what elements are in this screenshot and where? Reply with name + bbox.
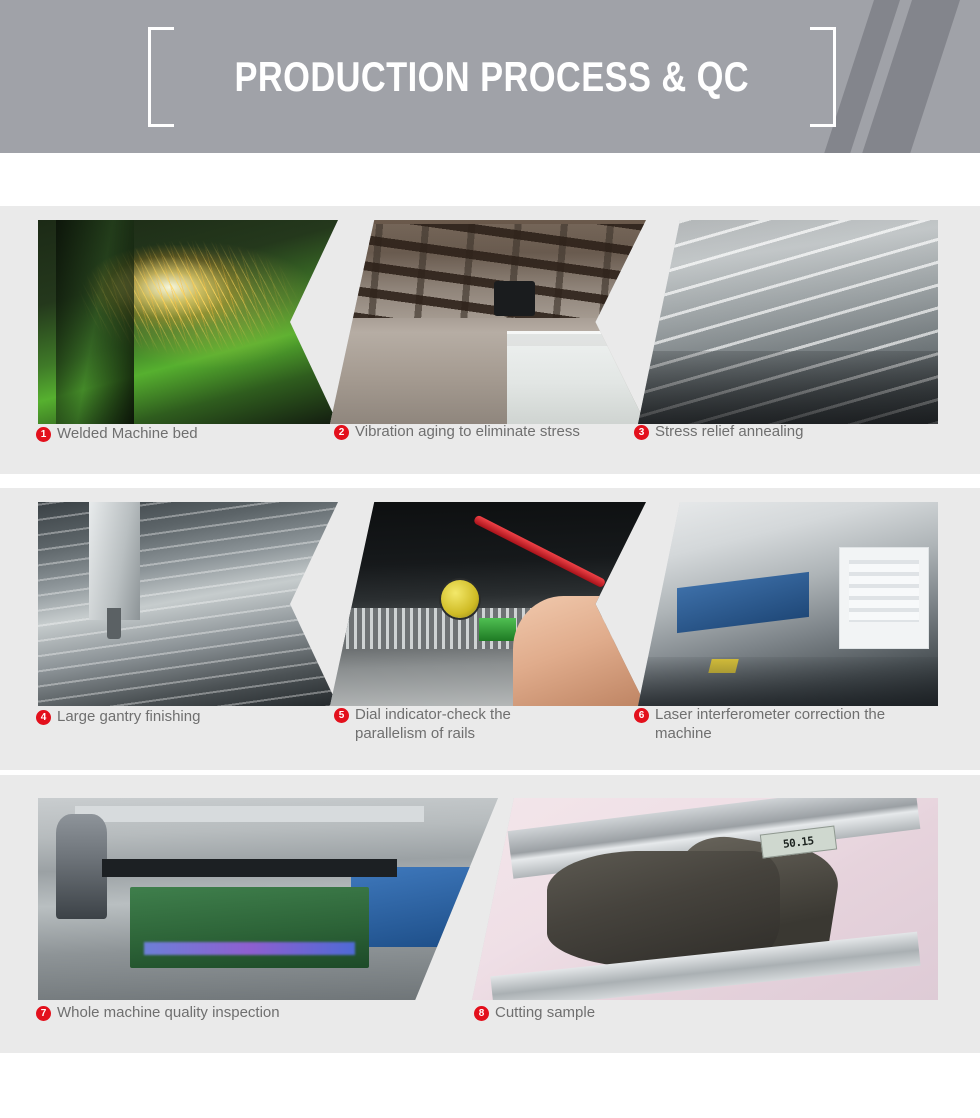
green-block-shape [479,618,517,640]
badge-number-8: 8 [474,1006,489,1021]
banner-diagonal-stripes [820,0,980,153]
dial-indicator-photo [330,502,646,706]
process-image-7[interactable] [38,798,498,1000]
caption-text-3: Stress relief annealing [655,422,803,441]
bracket-right-icon [810,27,836,127]
image-strip-row-3: 50.15 [38,798,938,1000]
process-image-8[interactable]: 50.15 [472,798,938,1000]
badge-number-5: 5 [334,708,349,723]
process-image-3[interactable] [638,220,938,424]
gantry-finishing-photo [38,502,338,706]
spindle-head-shape [89,502,140,620]
caption-step-6: 6 Laser interferometer correction the ma… [634,705,924,743]
control-unit-shape [494,281,535,316]
caption-text-6: Laser interferometer correction the mach… [655,705,924,743]
dark-beam-shape [102,859,396,877]
caption-text-7: Whole machine quality inspection [57,1003,280,1022]
image-strip-row-2 [38,502,938,706]
badge-number-7: 7 [36,1006,51,1021]
banner-title-group: PRODUCTION PROCESS & QC [148,27,836,127]
bracket-left-icon [148,27,174,127]
image-strip-row-1 [38,220,938,424]
caption-step-8: 8 Cutting sample [474,1003,774,1022]
welding-sparks-photo [38,220,338,424]
process-row-1: 1 Welded Machine bed 2 Vibration aging t… [0,206,980,474]
caption-text-4: Large gantry finishing [57,707,200,726]
overhead-rail-shape [75,806,425,822]
blue-table-shape [677,571,809,632]
caption-step-1: 1 Welded Machine bed [36,424,316,443]
process-image-1[interactable] [38,220,338,424]
caption-text-1: Welded Machine bed [57,424,198,443]
caption-text-8: Cutting sample [495,1003,595,1022]
caption-step-2: 2 Vibration aging to eliminate stress [334,422,584,441]
worker-figure-shape [56,814,107,919]
caption-step-5: 5 Dial indicator-check the parallelism o… [334,705,564,743]
page-banner: PRODUCTION PROCESS & QC [0,0,980,153]
caption-step-7: 7 Whole machine quality inspection [36,1003,436,1022]
badge-number-3: 3 [634,425,649,440]
operator-hand-shape [513,596,639,706]
caption-text-2: Vibration aging to eliminate stress [355,422,580,441]
badge-number-4: 4 [36,710,51,725]
annealing-furnace-photo [638,220,938,424]
vibration-aging-photo [330,220,646,424]
page-title: PRODUCTION PROCESS & QC [235,56,750,98]
badge-number-2: 2 [334,425,349,440]
cutting-sample-photo: 50.15 [472,798,938,1000]
dial-gauge-shape [441,580,479,618]
teal-machine-shape [545,385,627,416]
whole-machine-inspection-photo [38,798,498,1000]
process-image-4[interactable] [38,502,338,706]
process-image-5[interactable] [330,502,646,706]
process-image-2[interactable] [330,220,646,424]
caption-step-4: 4 Large gantry finishing [36,707,316,726]
green-laser-machine-shape [130,887,369,968]
control-panel-shape [839,547,929,649]
process-row-3: 50.15 7 Whole machine quality inspection… [0,775,980,1053]
magnetic-arm-shape [473,515,607,589]
badge-number-6: 6 [634,708,649,723]
caption-text-5: Dial indicator-check the parallelism of … [355,705,564,743]
badge-number-1: 1 [36,427,51,442]
laser-interferometer-photo [638,502,938,706]
yellow-marker-shape [708,659,739,673]
process-row-2: 4 Large gantry finishing 5 Dial indicato… [0,488,980,770]
process-image-6[interactable] [638,502,938,706]
caption-step-3: 3 Stress relief annealing [634,422,924,441]
